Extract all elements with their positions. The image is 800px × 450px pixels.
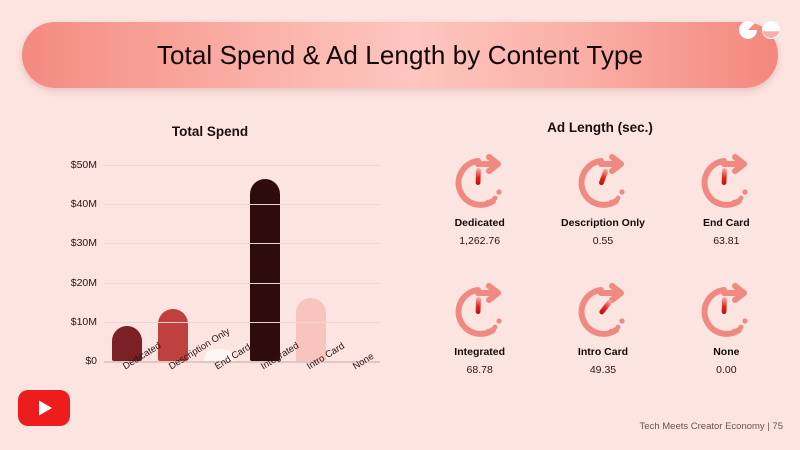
ad-length-value: 1,262.76	[459, 235, 500, 247]
ad-length-cell: None0.00	[665, 281, 788, 410]
ad-length-label: Description Only	[561, 217, 645, 229]
timer-clock-icon	[693, 281, 759, 343]
total-spend-chart-title: Total Spend	[130, 124, 290, 139]
y-axis-tick-label: $40M	[71, 198, 97, 210]
gridline	[104, 204, 380, 205]
bar-chart-plot-area: $0$10M$20M$30M$40M$50M	[104, 165, 380, 361]
y-axis-tick-label: $50M	[71, 159, 97, 171]
y-axis-tick-label: $10M	[71, 316, 97, 328]
timer-clock-icon	[570, 281, 636, 343]
ad-length-value: 0.55	[593, 235, 613, 247]
bar-integrated	[250, 179, 280, 361]
bar-chart-x-axis-labels: DedicatedDescription OnlyEnd CardIntegra…	[104, 363, 380, 419]
ad-length-section-title: Ad Length (sec.)	[480, 120, 720, 135]
total-spend-bar-chart: $0$10M$20M$30M$40M$50M DedicatedDescript…	[56, 158, 386, 370]
ad-length-cell: Dedicated1,262.76	[418, 152, 541, 281]
timer-clock-icon	[447, 281, 513, 343]
bar-series	[104, 165, 380, 361]
ad-length-label: Intro Card	[578, 346, 628, 358]
y-axis-tick-label: $30M	[71, 237, 97, 249]
footer-caption: Tech Meets Creator Economy | 75	[640, 421, 783, 432]
timer-clock-icon	[693, 152, 759, 214]
ad-length-value: 68.78	[467, 364, 493, 376]
title-banner: Total Spend & Ad Length by Content Type	[22, 22, 778, 88]
ad-length-label: None	[713, 346, 739, 358]
timer-clock-icon	[447, 152, 513, 214]
ad-length-cell: Integrated68.78	[418, 281, 541, 410]
ad-length-value: 49.35	[590, 364, 616, 376]
co-monogram-icon	[739, 14, 787, 46]
gridline	[104, 283, 380, 284]
ad-length-metric-grid: Dedicated1,262.76Description Only0.55End…	[418, 152, 788, 410]
page-title: Total Spend & Ad Length by Content Type	[157, 40, 643, 71]
ad-length-label: Dedicated	[455, 217, 505, 229]
timer-clock-icon	[570, 152, 636, 214]
gridline	[104, 322, 380, 323]
gridline	[104, 243, 380, 244]
ad-length-cell: Intro Card49.35	[541, 281, 664, 410]
youtube-play-icon	[17, 389, 71, 427]
ad-length-value: 63.81	[713, 235, 739, 247]
ad-length-cell: Description Only0.55	[541, 152, 664, 281]
ad-length-label: Integrated	[454, 346, 505, 358]
ad-length-label: End Card	[703, 217, 750, 229]
y-axis-tick-label: $20M	[71, 277, 97, 289]
ad-length-cell: End Card63.81	[665, 152, 788, 281]
y-axis-tick-label: $0	[85, 355, 97, 367]
gridline	[104, 165, 380, 166]
ad-length-value: 0.00	[716, 364, 736, 376]
